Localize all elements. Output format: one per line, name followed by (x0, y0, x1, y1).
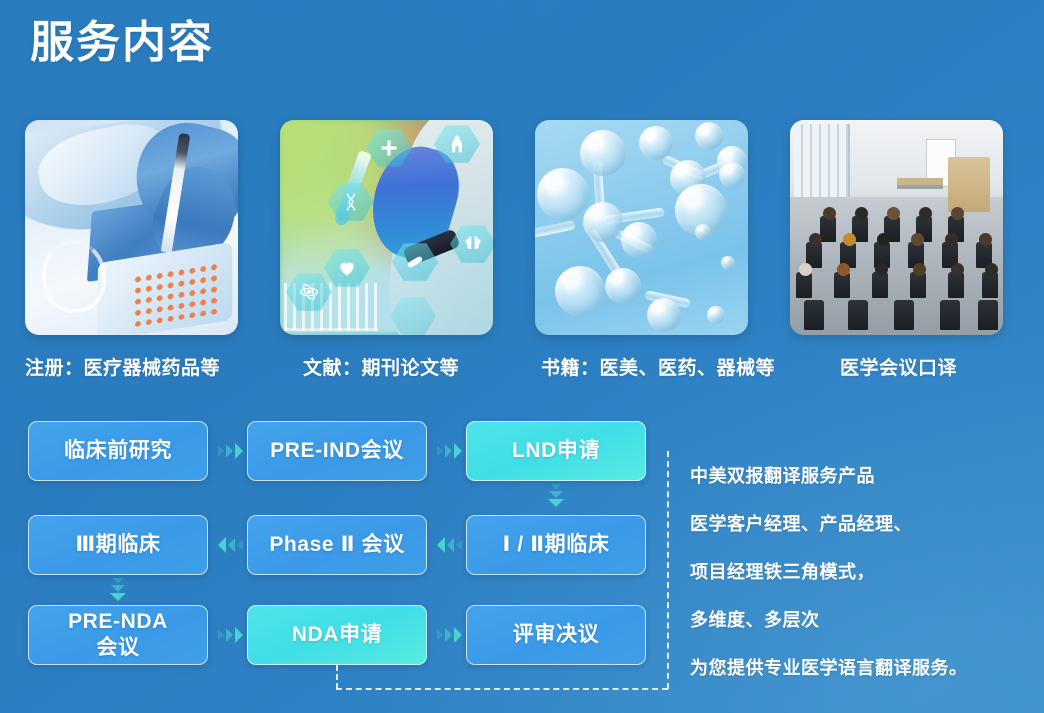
flow-arrow-right-3 (218, 627, 243, 643)
dashed-connector-down (336, 665, 338, 689)
description-line-4: 多维度、多层次 (690, 596, 1030, 644)
flow-arrow-right-2 (437, 443, 462, 459)
gallery-card-2[interactable] (280, 120, 493, 335)
description-line-3: 项目经理铁三角模式， (690, 548, 1030, 596)
flow-box-phase-2-meeting[interactable]: Phase Ⅱ 会议 (247, 515, 427, 575)
flow-arrow-down-1 (548, 484, 564, 507)
description-line-5: 为您提供专业医学语言翻译服务。 (690, 644, 1030, 692)
dashed-connector-horizontal (336, 688, 668, 690)
flow-box-label: 评审决议 (513, 622, 599, 648)
flow-box-review-resolution[interactable]: 评审决议 (466, 605, 646, 665)
flow-arrow-down-2 (110, 578, 126, 601)
flow-box-label: Ⅲ期临床 (75, 532, 160, 558)
flow-box-label: Phase Ⅱ 会议 (269, 532, 404, 558)
description-line-1: 中美双报翻译服务产品 (690, 452, 1030, 500)
lab-pipetting-photo (25, 120, 238, 335)
flow-box-label-line1: PRE-NDA (68, 609, 168, 635)
flow-box-label: PRE-NDA 会议 (68, 609, 168, 661)
flow-box-label: 临床前研究 (64, 438, 172, 464)
flow-box-label: PRE-IND会议 (270, 438, 404, 464)
gallery-card-3[interactable] (535, 120, 748, 335)
gallery-caption-2: 文献：期刊论文等 (303, 353, 459, 380)
gallery-card-4[interactable] (790, 120, 1003, 335)
flow-box-label: Ⅰ / Ⅱ期临床 (503, 532, 610, 558)
flow-box-label: LND申请 (512, 438, 600, 464)
gallery-card-1[interactable] (25, 120, 238, 335)
flow-arrow-left-1 (218, 537, 243, 553)
conference-room-photo (790, 120, 1003, 335)
flow-box-phase-1-2-clinical[interactable]: Ⅰ / Ⅱ期临床 (466, 515, 646, 575)
service-content-page: 服务内容 (0, 0, 1044, 713)
flow-box-label-line2: 会议 (68, 635, 168, 661)
flow-box-phase-3-clinical[interactable]: Ⅲ期临床 (28, 515, 208, 575)
flow-box-pre-ind-meeting[interactable]: PRE-IND会议 (247, 421, 427, 481)
gallery-caption-4: 医学会议口译 (840, 353, 957, 380)
flow-arrow-left-2 (437, 537, 462, 553)
flow-box-preclinical-research[interactable]: 临床前研究 (28, 421, 208, 481)
gallery-caption-1: 注册：医疗器械药品等 (25, 353, 220, 380)
medical-icons-lab-photo (280, 120, 493, 335)
service-description: 中美双报翻译服务产品 医学客户经理、产品经理、 项目经理铁三角模式， 多维度、多… (690, 452, 1030, 692)
page-title: 服务内容 (30, 12, 214, 74)
flow-box-nda-application[interactable]: NDA申请 (247, 605, 427, 665)
flow-box-pre-nda-meeting[interactable]: PRE-NDA 会议 (28, 605, 208, 665)
flow-box-label: NDA申请 (292, 622, 383, 648)
flow-arrow-right-4 (437, 627, 462, 643)
flow-arrow-right-1 (218, 443, 243, 459)
description-line-2: 医学客户经理、产品经理、 (690, 500, 1030, 548)
molecule-structure-photo (535, 120, 748, 335)
dashed-connector-up (667, 451, 669, 689)
flow-box-lnd-application[interactable]: LND申请 (466, 421, 646, 481)
gallery-caption-3: 书籍：医美、医药、器械等 (541, 353, 775, 380)
